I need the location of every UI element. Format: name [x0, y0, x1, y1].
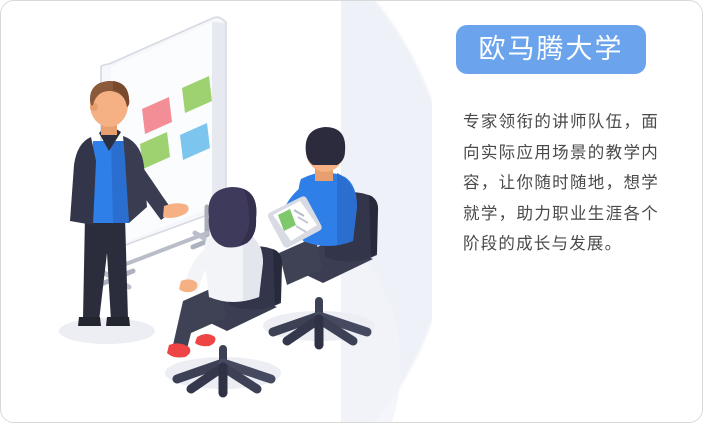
presenter-shoe-right	[106, 317, 130, 326]
description-paragraph: 专家领衔的讲师队伍，面向实际应用场景的教学内容，让你随时随地，想学就学，助力职业…	[463, 107, 659, 260]
text-panel: 欧马腾大学 专家领衔的讲师队伍，面向实际应用场景的教学内容，让你随时随地，想学就…	[453, 1, 688, 423]
seated-man-hair	[306, 127, 346, 165]
presenter-jacket-left	[70, 137, 96, 225]
presenter-shoe-left	[78, 317, 101, 326]
classroom-training-illustration	[1, 1, 421, 423]
presenter-legs	[83, 216, 128, 321]
university-badge-label: 欧马腾大学	[479, 36, 624, 63]
seated-woman-shoe-back	[195, 334, 215, 346]
university-promo-card: 欧马腾大学 专家领衔的讲师队伍，面向实际应用场景的教学内容，让你随时随地，想学就…	[0, 0, 703, 423]
chair-left-base	[177, 349, 271, 393]
chair-right-base	[273, 301, 367, 345]
university-badge: 欧马腾大学	[456, 25, 646, 74]
whiteboard-edge-shade	[212, 22, 225, 207]
